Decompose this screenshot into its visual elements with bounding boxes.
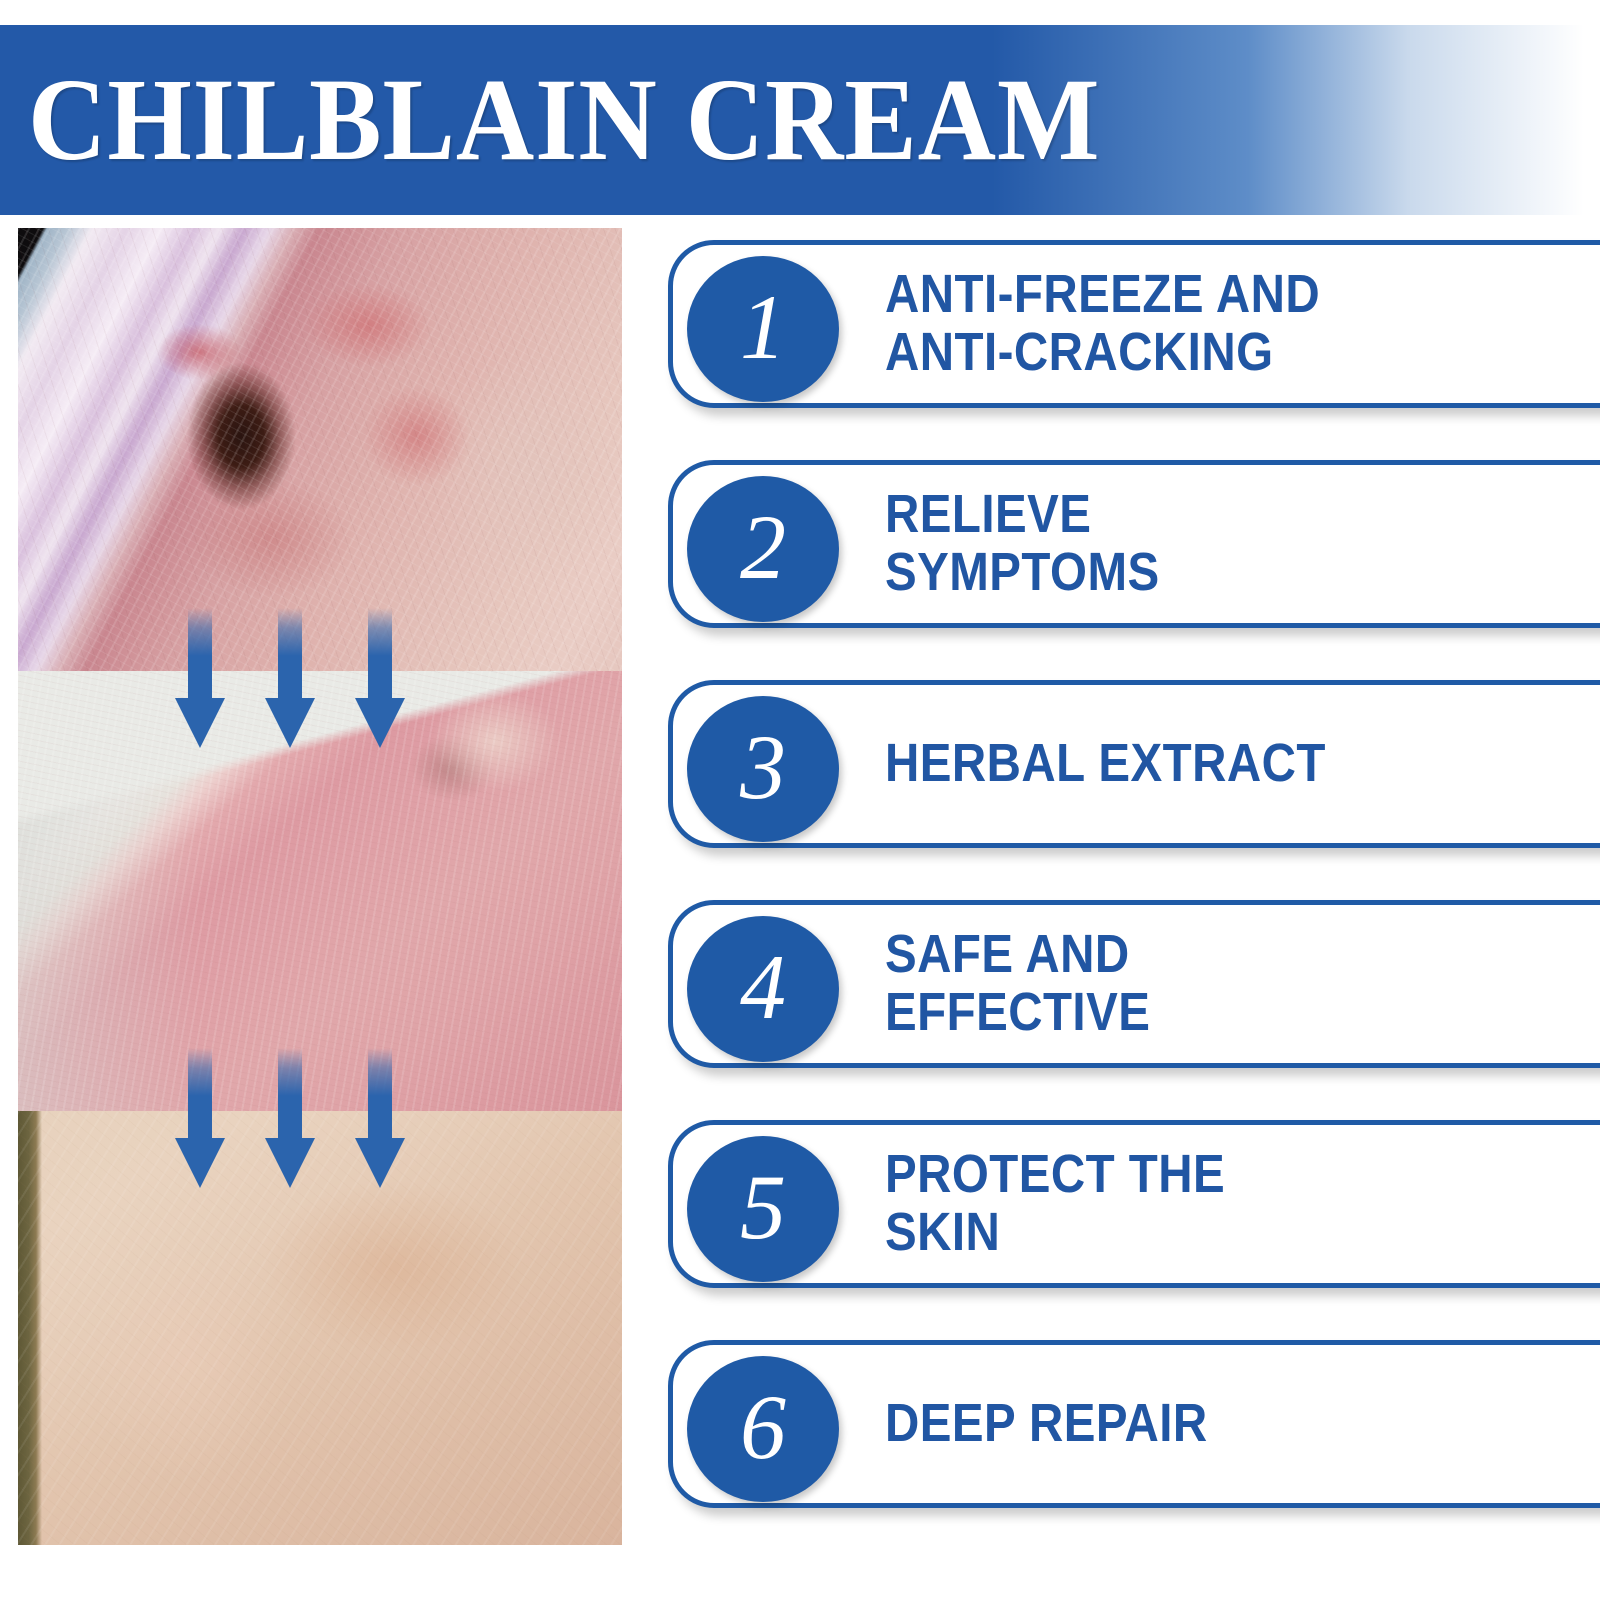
feature-number-badge: 6 xyxy=(687,1356,839,1502)
photo-before-damaged-skin xyxy=(18,228,622,671)
feature-label: DEEP REPAIR xyxy=(885,1395,1208,1453)
down-arrow-icon xyxy=(175,1048,225,1188)
feature-item-6: 6 DEEP REPAIR xyxy=(668,1340,1600,1508)
feature-item-4: 4 SAFE AND EFFECTIVE xyxy=(668,900,1600,1068)
header-banner: CHILBLAIN CREAM xyxy=(0,25,1600,215)
feature-label: ANTI-FREEZE AND ANTI-CRACKING xyxy=(885,266,1320,382)
arrows-during-to-after xyxy=(175,1048,405,1188)
down-arrow-icon xyxy=(175,608,225,748)
feature-number: 3 xyxy=(740,721,786,813)
feature-number-badge: 3 xyxy=(687,696,839,842)
down-arrow-icon xyxy=(355,1048,405,1188)
feature-label: SAFE AND EFFECTIVE xyxy=(885,926,1150,1042)
feature-label: PROTECT THE SKIN xyxy=(885,1146,1225,1262)
feature-number-badge: 2 xyxy=(687,476,839,622)
feature-item-3: 3 HERBAL EXTRACT xyxy=(668,680,1600,848)
feature-number-badge: 5 xyxy=(687,1136,839,1282)
page-title: CHILBLAIN CREAM xyxy=(28,61,1100,179)
feature-label: RELIEVE SYMPTOMS xyxy=(885,486,1160,602)
feature-number-badge: 4 xyxy=(687,916,839,1062)
arrows-before-to-during xyxy=(175,608,405,748)
feature-item-2: 2 RELIEVE SYMPTOMS xyxy=(668,460,1600,628)
feature-label: HERBAL EXTRACT xyxy=(885,735,1326,793)
down-arrow-icon xyxy=(355,608,405,748)
feature-item-5: 5 PROTECT THE SKIN xyxy=(668,1120,1600,1288)
damaged-skin-image xyxy=(18,228,622,671)
down-arrow-icon xyxy=(265,1048,315,1188)
feature-number: 5 xyxy=(740,1161,786,1253)
feature-number: 6 xyxy=(740,1381,786,1473)
feature-number: 1 xyxy=(740,281,786,373)
feature-item-1: 1 ANTI-FREEZE AND ANTI-CRACKING xyxy=(668,240,1600,408)
down-arrow-icon xyxy=(265,608,315,748)
before-after-photo-column xyxy=(18,228,622,1545)
feature-number: 4 xyxy=(740,941,786,1033)
feature-number-badge: 1 xyxy=(687,256,839,402)
feature-list: 1 ANTI-FREEZE AND ANTI-CRACKING 2 RELIEV… xyxy=(668,240,1600,1508)
feature-number: 2 xyxy=(740,501,786,593)
